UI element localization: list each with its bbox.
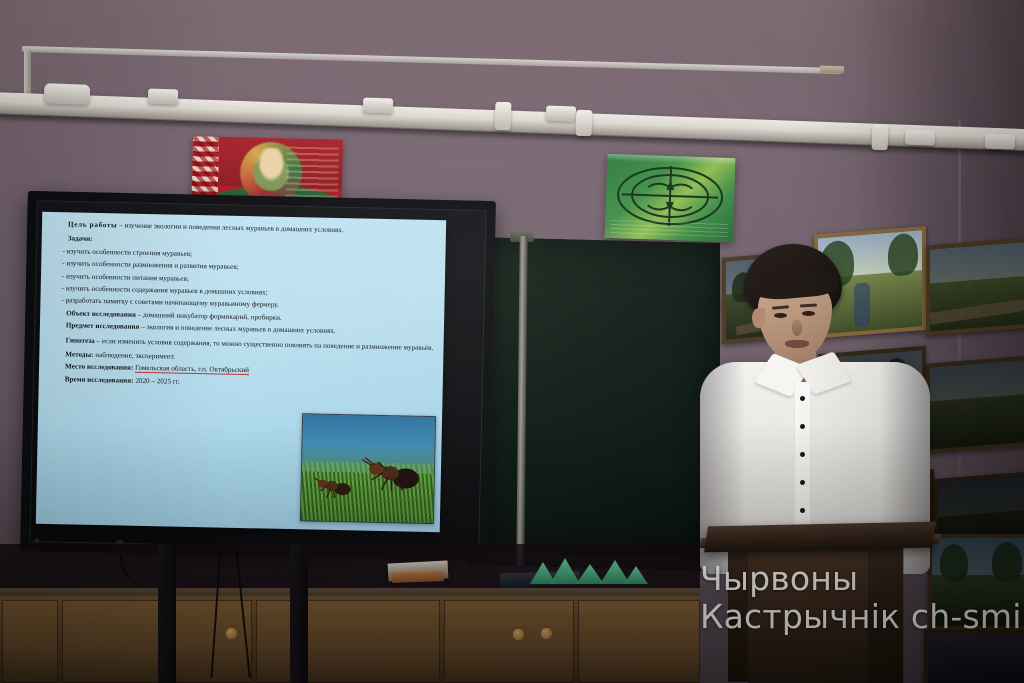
- cabinet-door[interactable]: [2, 600, 58, 683]
- shirt-button: [800, 424, 805, 429]
- slide-subject-text: – экология и поведение лесных муравьев в…: [141, 323, 336, 335]
- ant-photo: [300, 413, 436, 524]
- podium-top: [704, 522, 936, 553]
- rail-bracket-icon: [905, 129, 936, 145]
- slide-methods-text: наблюдение, эксперимент.: [95, 351, 175, 361]
- slide-hypothesis-text: – если изменить условия содержания, то м…: [96, 337, 433, 352]
- ant-icon: [311, 475, 351, 500]
- rail-bracket-icon: [44, 83, 91, 105]
- slide-place-text: Гомельская область, г.п. Октябрьский: [135, 364, 249, 375]
- rail-bracket-icon: [872, 124, 889, 151]
- shirt-button: [800, 452, 805, 457]
- ant-icon: [358, 457, 421, 492]
- power-led-icon: [34, 538, 39, 543]
- watermark-line1: Чырвоны: [700, 559, 858, 598]
- rail-bracket-icon: [363, 97, 394, 113]
- chalkboard: [470, 237, 720, 565]
- stand-leg: [290, 544, 308, 683]
- slide-object-text: – домашний инкубатор формикарий, пробирк…: [138, 311, 282, 322]
- rail-bracket-icon: [495, 102, 512, 131]
- slide-place-label: Место исследования:: [65, 363, 133, 372]
- painting: [924, 630, 1024, 683]
- cabinet-door[interactable]: [578, 600, 700, 683]
- slide-hypothesis-label: Гипотеза: [66, 336, 95, 345]
- shirt-button: [800, 508, 805, 513]
- cabinet-door[interactable]: [444, 600, 574, 683]
- green-craft: [530, 558, 648, 584]
- cabinet-door[interactable]: [256, 600, 440, 683]
- slide-aim-text: – изучение экологии и поведения лесных м…: [119, 221, 344, 234]
- rail-bracket-icon: [546, 105, 577, 121]
- shirt-button: [800, 396, 805, 401]
- slide-subject-label: Предмет исследования: [66, 321, 140, 331]
- cabinet-knob[interactable]: [541, 628, 552, 639]
- shirt-button: [800, 480, 805, 485]
- slide-time-label: Время исследования:: [65, 375, 134, 384]
- rail-bracket-icon: [576, 110, 593, 137]
- green-poster: [605, 154, 736, 242]
- cabinet-knob[interactable]: [226, 628, 237, 639]
- painting: [926, 355, 1024, 453]
- books-stack: [392, 571, 444, 583]
- painting: [926, 237, 1024, 335]
- rail-bracket-icon: [985, 133, 1016, 149]
- slide-aim-label: Цель работы: [68, 220, 117, 229]
- watermark-line2: Кастрычнік ch-smi.by: [700, 598, 1024, 636]
- rail-bracket-icon: [148, 88, 179, 104]
- presentation-slide: Цель работы – изучение экологии и поведе…: [36, 212, 446, 532]
- photo-scene: HISENSE Цель работы – изучение экологии …: [0, 0, 1024, 683]
- cabinet-knob[interactable]: [513, 629, 524, 640]
- slide-methods-label: Методы:: [65, 350, 93, 359]
- slide-object-label: Объект исследования: [66, 309, 136, 318]
- watermark: Чырвоны Кастрычнік ch-smi.by: [700, 560, 1024, 637]
- slide-time-text: 2020 – 2025 гг.: [135, 377, 180, 386]
- slide-tasks-label: Задачи:: [68, 235, 93, 244]
